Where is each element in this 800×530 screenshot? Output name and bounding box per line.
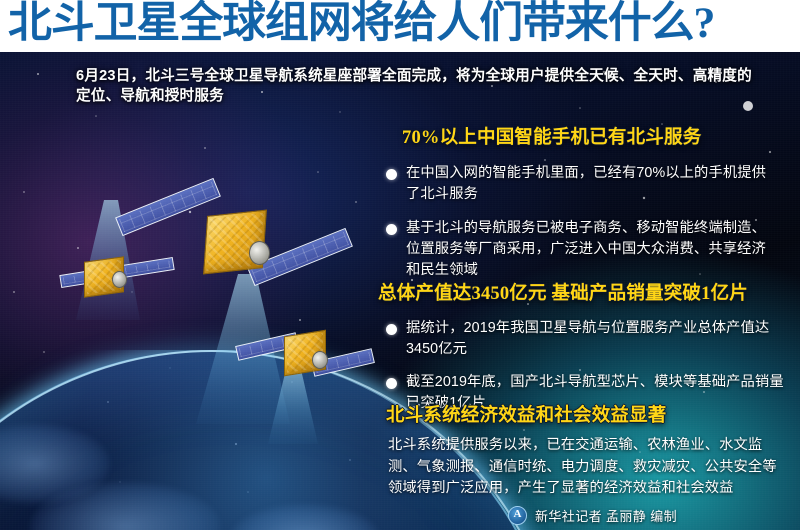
section-3: 北斗系统经济效益和社会效益显著 北斗系统提供服务以来，已在交通运输、农林渔业、水…: [378, 404, 778, 500]
section-3-heading: 北斗系统经济效益和社会效益显著: [378, 404, 778, 428]
section-2-heading: 总体产值达3450亿元 基础产品销量突破1亿片: [378, 282, 788, 306]
section-1-bullet-2-text: 基于北斗的导航服务已被电子商务、移动智能终端制造、位置服务等厂商采用，广泛进入中…: [406, 218, 778, 281]
section-2-bullet-1-text: 据统计，2019年我国卫星导航与位置服务产业总体产值达3450亿元: [406, 318, 788, 360]
antenna-dish-icon: [312, 351, 328, 369]
section-1-bullet-1-text: 在中国入网的智能手机里面，已经有70%以上的手机提供了北斗服务: [406, 163, 778, 205]
bullet-dot-icon: [386, 378, 397, 389]
satellite-center: [125, 187, 345, 297]
bullet-dot-icon: [386, 224, 397, 235]
lede-paragraph: 6月23日，北斗三号全球卫星导航系统星座部署全面完成，将为全球用户提供全天候、全…: [76, 66, 766, 106]
infographic-poster: 北斗卫星全球组网将给人们带来什么?: [0, 0, 800, 530]
section-3-paragraph: 北斗系统提供服务以来，已在交通运输、农林渔业、水文监测、气象测报、通信时统、电力…: [378, 435, 778, 500]
page-title: 北斗卫星全球组网将给人们带来什么?: [8, 0, 714, 50]
section-1-bullet-2: 基于北斗的导航服务已被电子商务、移动智能终端制造、位置服务等厂商采用，广泛进入中…: [378, 218, 778, 281]
title-band: 北斗卫星全球组网将给人们带来什么?: [0, 0, 800, 52]
xinhua-logo-icon: [508, 506, 527, 525]
antenna-dish-icon: [249, 241, 270, 265]
solar-panel: [115, 178, 221, 236]
section-1: 70%以上中国智能手机已有北斗服务 在中国入网的智能手机里面，已经有70%以上的…: [378, 126, 778, 281]
bullet-dot-icon: [386, 169, 397, 180]
section-1-bullet-1: 在中国入网的智能手机里面，已经有70%以上的手机提供了北斗服务: [378, 163, 778, 205]
bullet-dot-icon: [386, 324, 397, 335]
section-2-bullet-1: 据统计，2019年我国卫星导航与位置服务产业总体产值达3450亿元: [378, 318, 788, 360]
credit-line: 新华社记者 孟丽静 编制: [508, 506, 677, 525]
section-2: 总体产值达3450亿元 基础产品销量突破1亿片 据统计，2019年我国卫星导航与…: [378, 282, 788, 414]
satellite-right: [240, 317, 390, 387]
section-1-heading: 70%以上中国智能手机已有北斗服务: [378, 126, 778, 150]
credit-text: 新华社记者 孟丽静 编制: [535, 506, 677, 525]
